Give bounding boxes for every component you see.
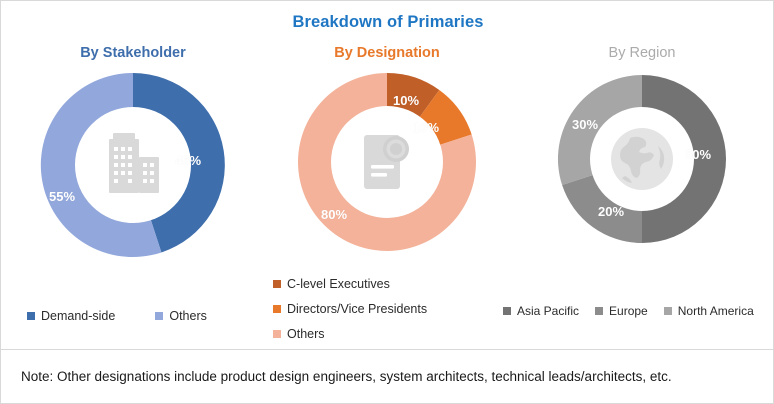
panel-title-by-stakeholder: By Stakeholder — [7, 45, 259, 61]
data-label-designation-others: 80% — [321, 207, 347, 222]
legend-swatch-europe — [595, 307, 603, 315]
legend-label-stakeholder-others: Others — [169, 309, 207, 323]
legend-swatch-directors-vice-presidents — [273, 305, 281, 313]
donut-svg-designation — [292, 67, 482, 257]
legend-swatch-asia-pacific — [503, 307, 511, 315]
legend-item-north-america[interactable]: North America — [664, 304, 754, 318]
legend-swatch-north-america — [664, 307, 672, 315]
legend-swatch-demand-side — [27, 312, 35, 320]
panel-title-by-region: By Region — [515, 45, 769, 61]
legend-by-stakeholder: Demand-side Others — [27, 309, 257, 323]
donut-chart-by-designation: 10% 10% 80% — [292, 67, 482, 257]
donut-hole-stakeholder — [75, 107, 191, 223]
breakdown-of-primaries-figure: Breakdown of Primaries By Stakeholder — [0, 0, 774, 404]
legend-item-europe[interactable]: Europe — [595, 304, 648, 318]
legend-item-asia-pacific[interactable]: Asia Pacific — [503, 304, 579, 318]
legend-by-designation: C-level Executives Directors/Vice Presid… — [273, 277, 427, 341]
footer-divider — [1, 349, 773, 350]
legend-label-designation-others: Others — [287, 327, 325, 341]
data-label-directors: 10% — [413, 120, 439, 135]
panel-by-region: By Region 50% 20% — [515, 41, 769, 341]
data-label-c-level-executives: 10% — [393, 93, 419, 108]
footer-note: Note: Other designations include product… — [21, 369, 672, 384]
legend-label-asia-pacific: Asia Pacific — [517, 304, 579, 318]
data-label-europe: 20% — [598, 204, 624, 219]
legend-item-c-level-executives[interactable]: C-level Executives — [273, 277, 390, 291]
donut-chart-by-stakeholder: 45% 55% — [35, 67, 231, 263]
legend-label-c-level-executives: C-level Executives — [287, 277, 390, 291]
data-label-demand-side: 45% — [175, 153, 201, 168]
legend-swatch-designation-others — [273, 330, 281, 338]
legend-item-stakeholder-others[interactable]: Others — [155, 309, 207, 323]
legend-item-designation-others[interactable]: Others — [273, 327, 325, 341]
legend-item-directors-vice-presidents[interactable]: Directors/Vice Presidents — [273, 302, 427, 316]
legend-label-north-america: North America — [678, 304, 754, 318]
legend-swatch-c-level-executives — [273, 280, 281, 288]
donut-hole-region — [590, 107, 694, 211]
panel-title-by-designation: By Designation — [263, 45, 511, 61]
legend-by-region: Asia Pacific Europe North America — [503, 304, 754, 318]
panel-by-stakeholder: By Stakeholder — [7, 41, 259, 341]
legend-swatch-stakeholder-others — [155, 312, 163, 320]
legend-label-directors-vice-presidents: Directors/Vice Presidents — [287, 302, 427, 316]
legend-item-demand-side[interactable]: Demand-side — [27, 309, 115, 323]
donut-svg-stakeholder — [35, 67, 231, 263]
donut-chart-by-region: 50% 20% 30% — [552, 69, 732, 249]
legend-label-europe: Europe — [609, 304, 648, 318]
data-label-asia-pacific: 50% — [685, 147, 711, 162]
data-label-stakeholder-others: 55% — [49, 189, 75, 204]
page-title: Breakdown of Primaries — [1, 13, 774, 32]
legend-label-demand-side: Demand-side — [41, 309, 115, 323]
data-label-north-america: 30% — [572, 117, 598, 132]
